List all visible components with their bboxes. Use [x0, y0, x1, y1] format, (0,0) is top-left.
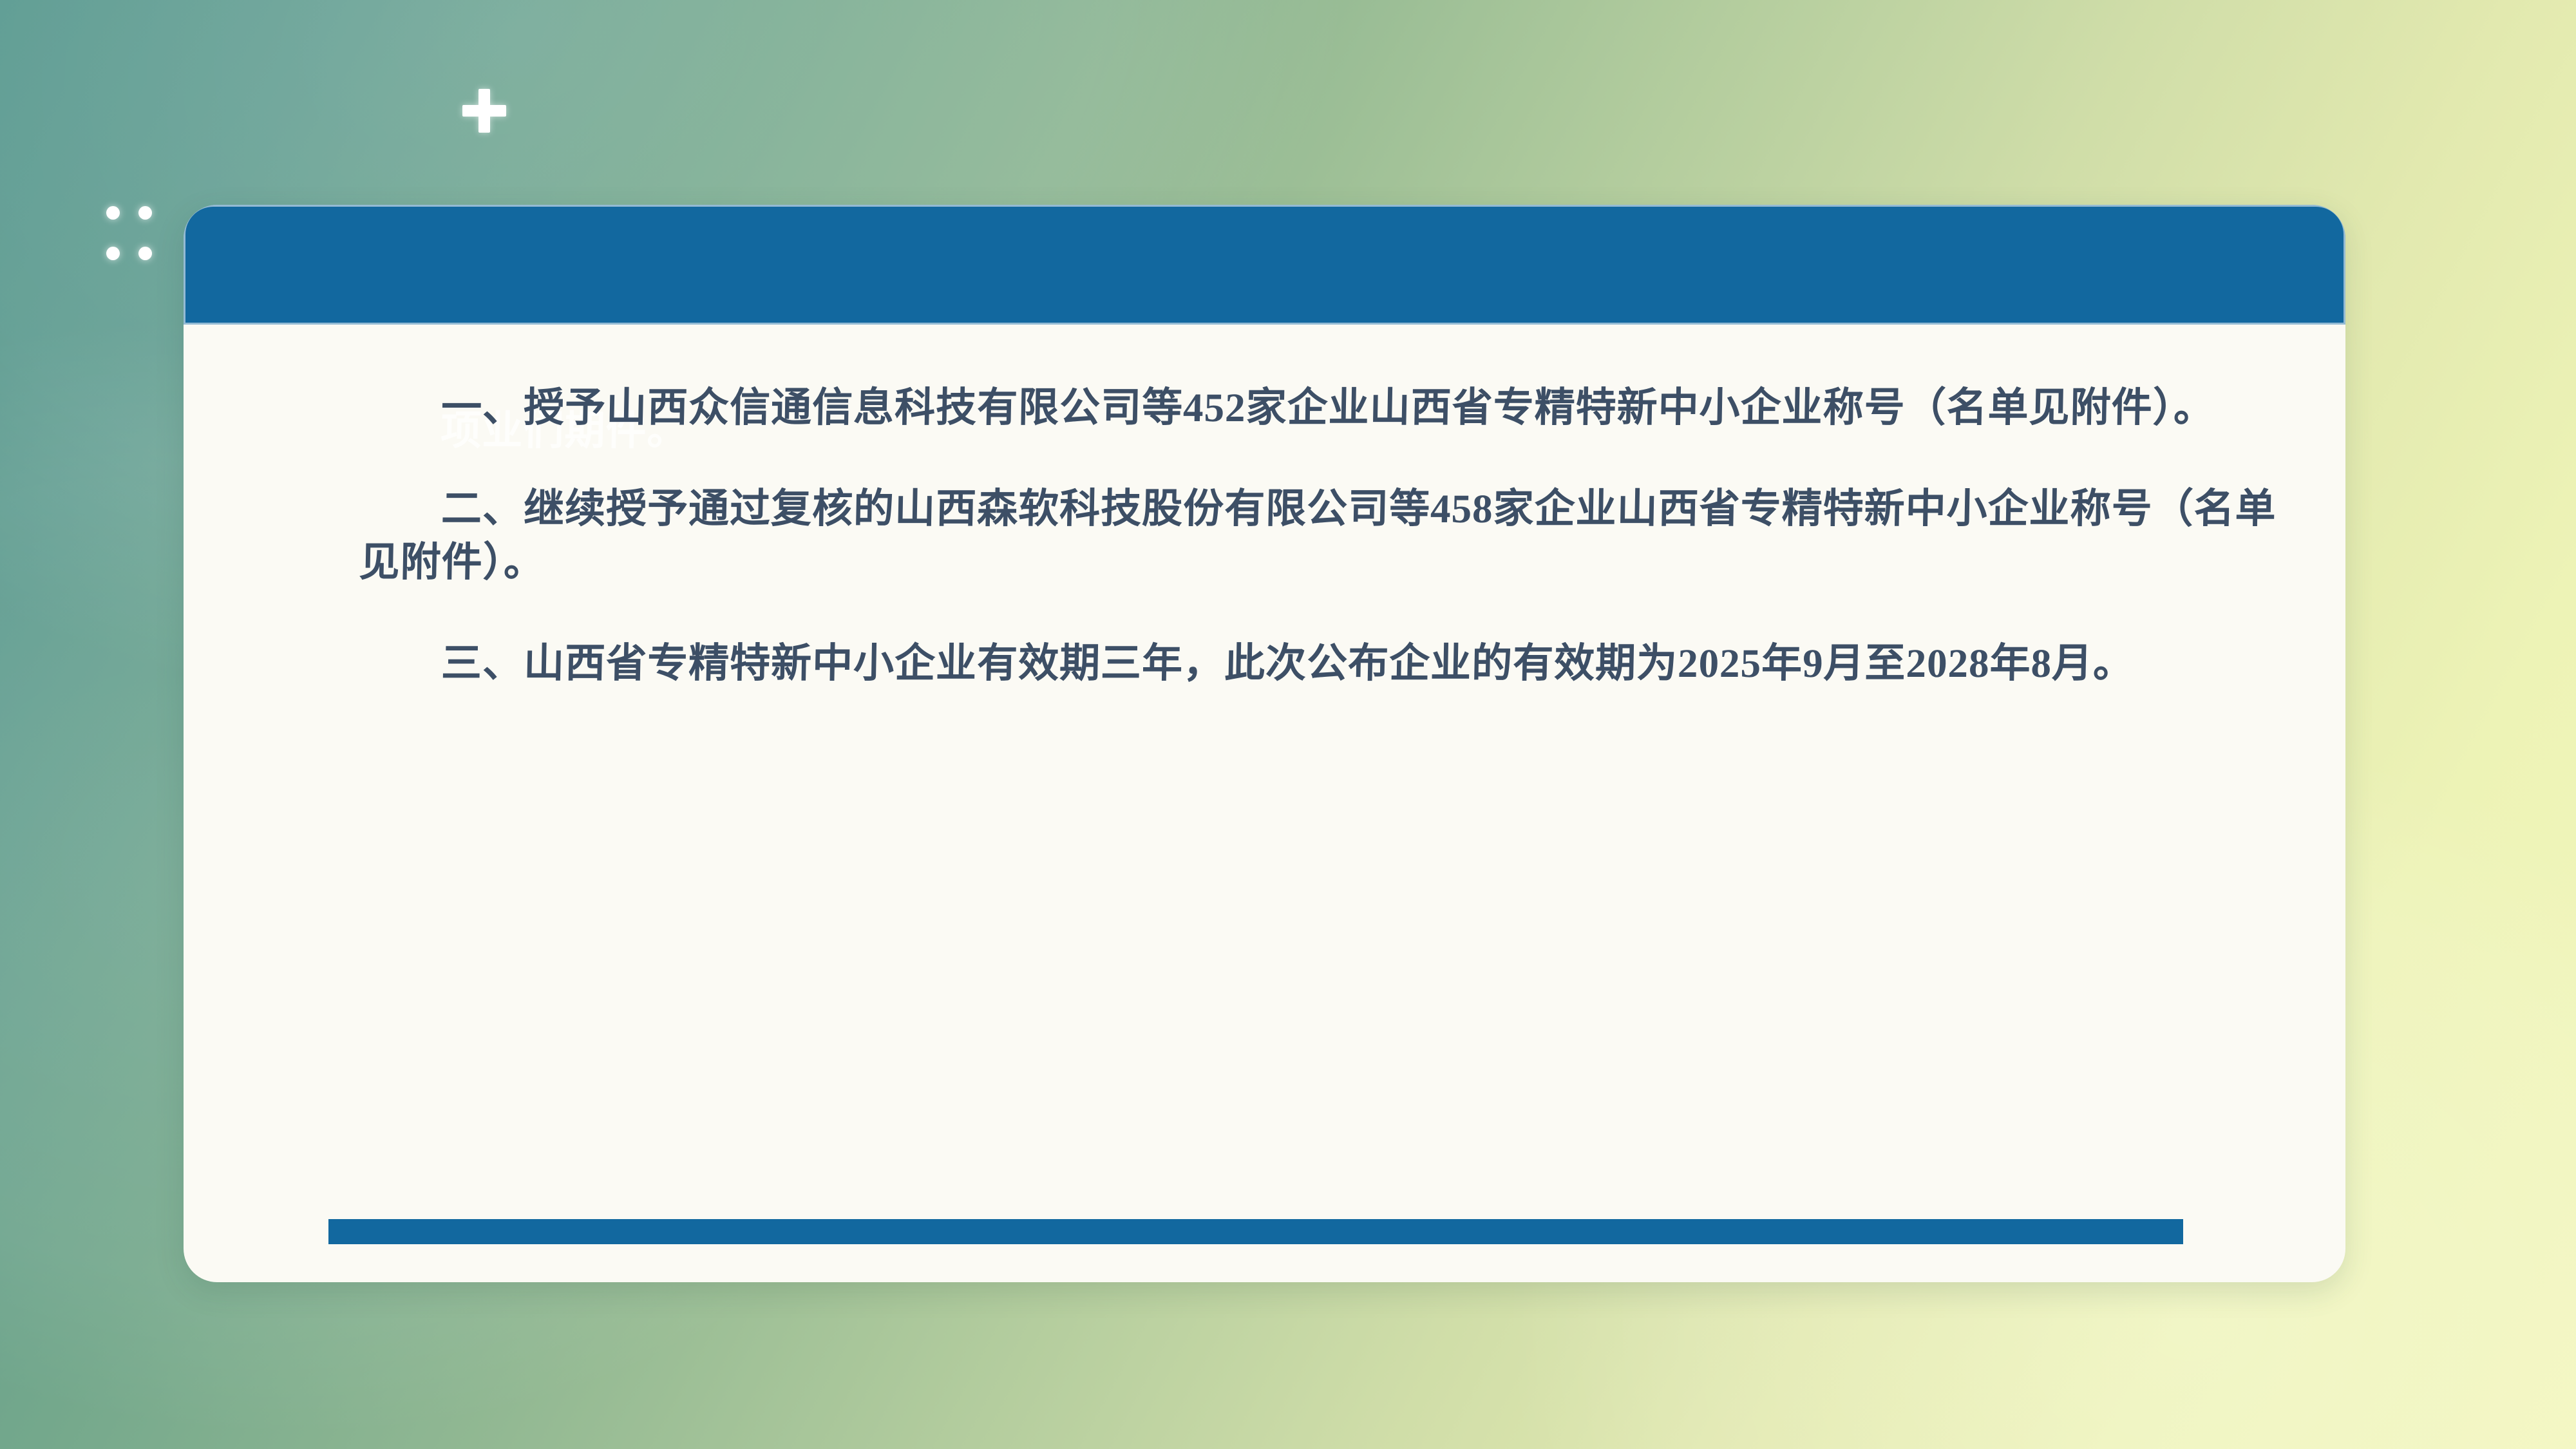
slide-canvas: 项业们期件。 一、授予山西众信通信息科技有限公司等452家企业山西省专精特新中小…	[0, 0, 2576, 1449]
dot	[138, 247, 152, 260]
card-header-bar	[184, 205, 2345, 325]
dot	[106, 247, 120, 260]
dot	[138, 206, 152, 220]
document-body: 一、授予山西众信通信息科技有限公司等452家企业山西省专精特新中小企业称号（名单…	[184, 325, 2345, 1282]
document-paragraph-1: 一、授予山西众信通信息科技有限公司等452家企业山西省专精特新中小企业称号（名单…	[359, 381, 2278, 435]
plus-icon	[462, 89, 506, 133]
dot-grid-icon	[106, 206, 152, 260]
dot	[106, 206, 120, 220]
bottom-accent-bar	[328, 1219, 2183, 1244]
document-paragraph-2: 二、继续授予通过复核的山西森软科技股份有限公司等458家企业山西省专精特新中小企…	[359, 482, 2278, 589]
document-card: 项业们期件。 一、授予山西众信通信息科技有限公司等452家企业山西省专精特新中小…	[184, 205, 2345, 1282]
document-paragraph-3: 三、山西省专精特新中小企业有效期三年，此次公布企业的有效期为2025年9月至20…	[359, 637, 2278, 690]
